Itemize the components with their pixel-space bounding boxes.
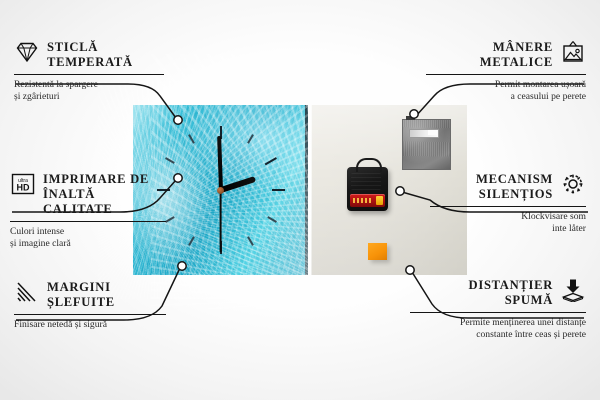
foam-spacer-icon bbox=[560, 278, 586, 302]
callout-description: Klockvisare som inte låter bbox=[430, 211, 586, 236]
connector-dot-mechanism bbox=[396, 187, 404, 195]
callout-title: MÂNERE METALICE bbox=[480, 40, 553, 70]
callout-title: DISTANȚIER SPUMĂ bbox=[469, 278, 553, 308]
callout-foam-spacer: DISTANȚIER SPUMĂ Permite menținerea unei… bbox=[410, 278, 586, 342]
diamond-icon bbox=[14, 40, 40, 64]
connector-dot-glass bbox=[174, 116, 182, 124]
callout-description: Finisare netedă și sigură bbox=[14, 319, 166, 331]
callout-rule bbox=[10, 221, 166, 222]
callout-tempered-glass: STICLĂ TEMPERATĂ Rezistentă la spargere … bbox=[14, 40, 164, 104]
callout-rule bbox=[14, 314, 166, 315]
callout-title: MECANISM SILENȚIOS bbox=[476, 172, 553, 202]
callout-description: Culori intense și imagine clară bbox=[10, 226, 166, 251]
svg-text:HD: HD bbox=[17, 183, 30, 193]
connector-dot-edges bbox=[178, 262, 186, 270]
callout-polished-edges: MARGINI ȘLEFUITE Finisare netedă și sigu… bbox=[14, 280, 166, 331]
callout-rule bbox=[410, 312, 586, 313]
callout-rule bbox=[430, 206, 586, 207]
picture-hanger-icon bbox=[560, 40, 586, 64]
callout-silent-mechanism: MECANISM SILENȚIOS Klockvisare som inte … bbox=[430, 172, 586, 236]
gear-icon bbox=[560, 172, 586, 196]
connector-dot-print bbox=[174, 174, 182, 182]
callout-metal-handles: MÂNERE METALICE Permit montarea ușoară a… bbox=[426, 40, 586, 104]
callout-rule bbox=[14, 74, 164, 75]
callout-description: Rezistentă la spargere și zgârieturi bbox=[14, 79, 164, 104]
callout-description: Permite menținerea unei distanțe constan… bbox=[410, 317, 586, 342]
callout-description: Permit montarea ușoară a ceasului pe per… bbox=[426, 79, 586, 104]
callout-high-quality-print: ultra HD IMPRIMARE DE ÎNALTĂ CALITATE Cu… bbox=[10, 172, 166, 251]
infographic-canvas: STICLĂ TEMPERATĂ Rezistentă la spargere … bbox=[0, 0, 600, 400]
polished-edges-icon bbox=[14, 280, 40, 304]
callout-title: MARGINI ȘLEFUITE bbox=[47, 280, 115, 310]
callout-rule bbox=[426, 74, 586, 75]
connector-dot-handles bbox=[410, 110, 418, 118]
connector-dot-spacer bbox=[406, 266, 414, 274]
callout-title: IMPRIMARE DE ÎNALTĂ CALITATE bbox=[43, 172, 166, 217]
callout-title: STICLĂ TEMPERATĂ bbox=[47, 40, 133, 70]
ultra-hd-icon: ultra HD bbox=[10, 172, 36, 196]
